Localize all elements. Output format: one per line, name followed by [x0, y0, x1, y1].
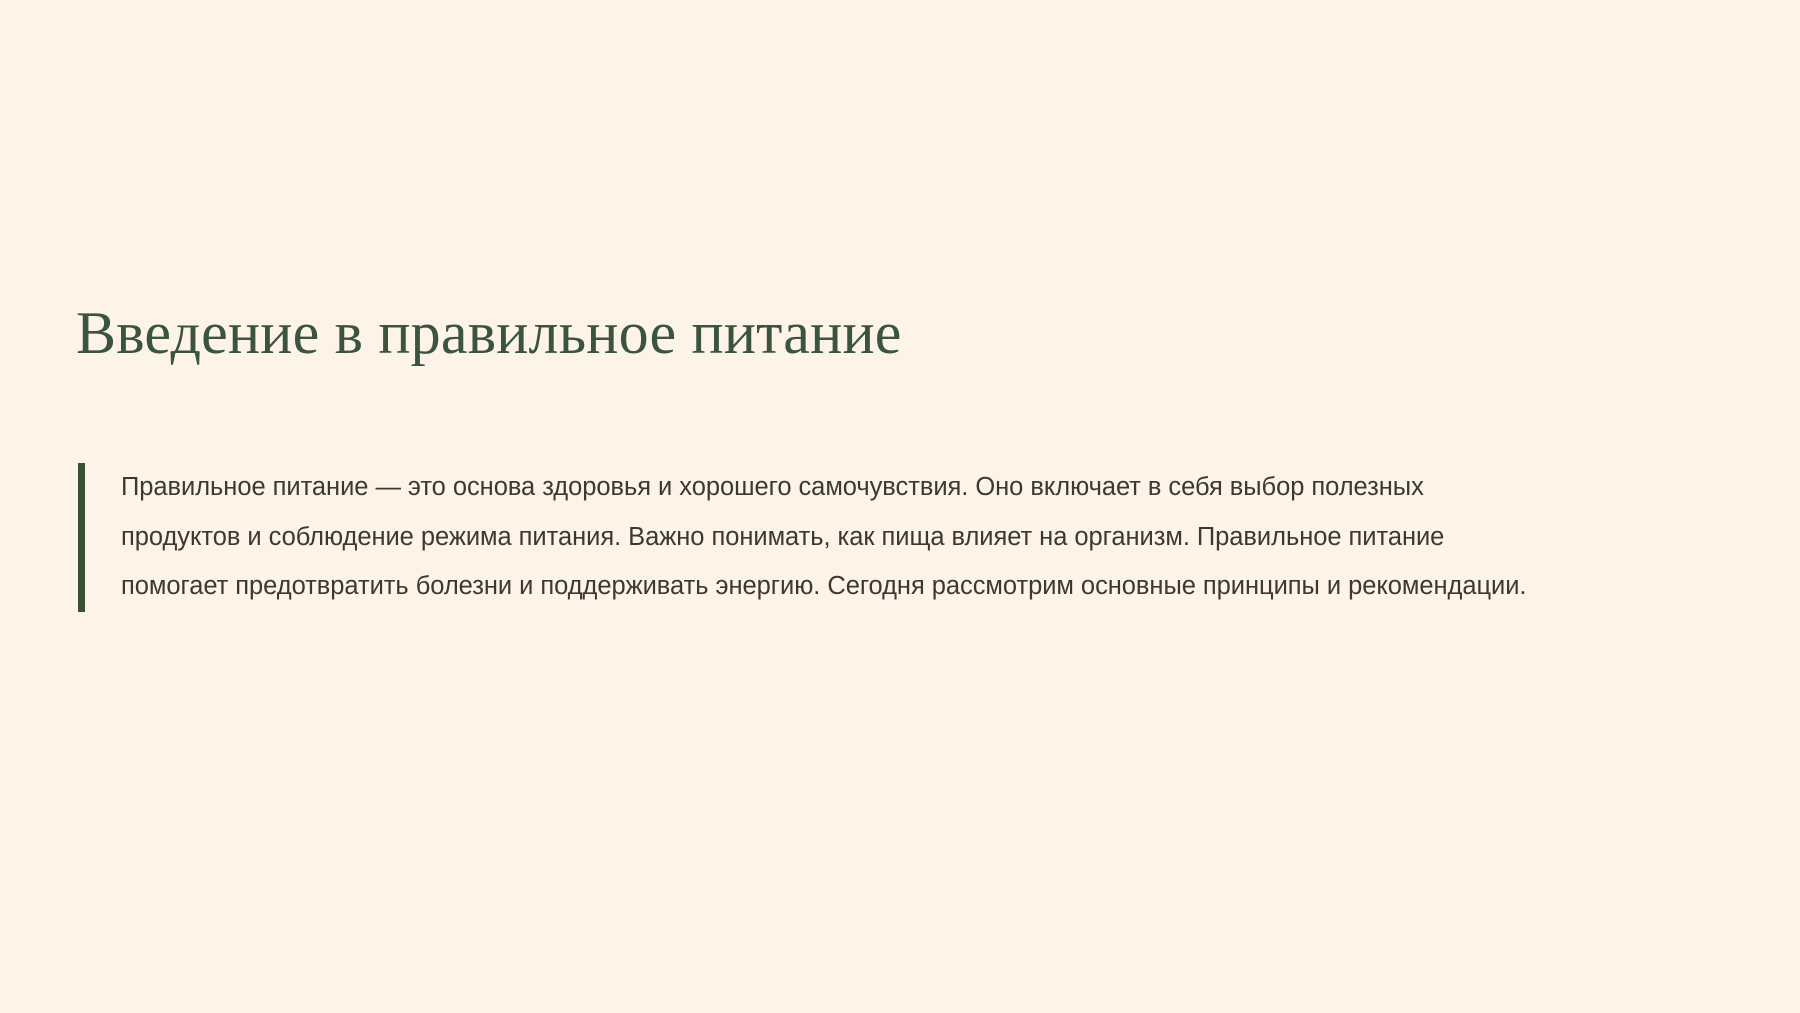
page-title: Введение в правильное питание [76, 298, 1696, 369]
slide-canvas: Введение в правильное питание Правильное… [0, 0, 1800, 1013]
left-accent-bar [78, 463, 85, 612]
body-quote-block: Правильное питание — это основа здоровья… [78, 463, 1538, 612]
body-paragraph: Правильное питание — это основа здоровья… [85, 463, 1538, 612]
